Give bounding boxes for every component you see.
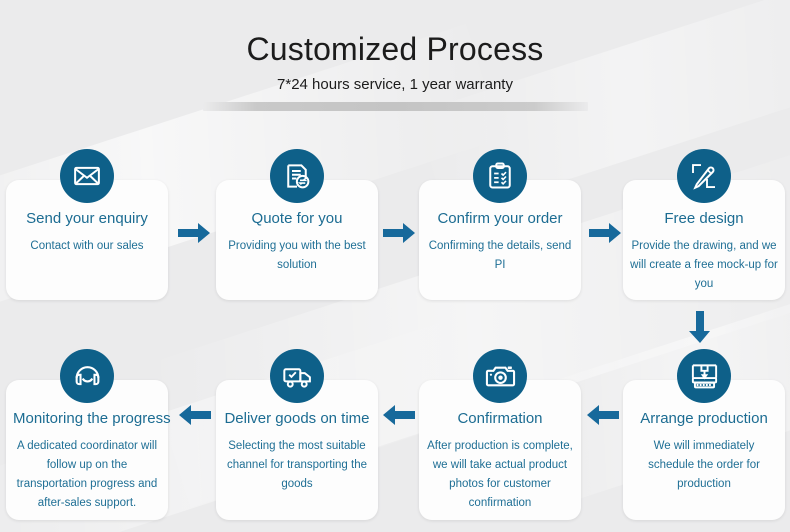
header-divider	[203, 102, 588, 111]
step-body: Contact with our sales	[13, 237, 161, 256]
step-title: Confirmation	[426, 410, 574, 428]
arrow-down-icon	[689, 311, 711, 344]
arrow-right-icon	[589, 222, 622, 244]
step-body: Providing you with the best solution	[223, 237, 371, 275]
step-body: Confirming the details, send PI	[426, 237, 574, 275]
step-title: Quote for you	[223, 210, 371, 228]
page-title: Customized Process	[0, 32, 790, 67]
step-body: Provide the drawing, and we will create …	[630, 237, 778, 294]
arrow-left-icon	[382, 404, 415, 426]
production-machine-icon	[677, 349, 731, 403]
pencil-design-icon	[677, 149, 731, 203]
page-header: Customized Process 7*24 hours service, 1…	[0, 0, 790, 111]
step-card-deliver-goods-on-time[interactable]: Deliver goods on time Selecting the most…	[216, 380, 378, 520]
step-body: Selecting the most suitable channel for …	[223, 437, 371, 494]
delivery-truck-icon	[270, 349, 324, 403]
step-card-confirm-your-order[interactable]: Confirm your order Confirming the detail…	[419, 180, 581, 300]
step-card-quote-for-you[interactable]: Quote for you Providing you with the bes…	[216, 180, 378, 300]
process-row-bottom: Monitoring the progress A dedicated coor…	[0, 380, 790, 532]
step-body: After production is complete, we will ta…	[426, 437, 574, 513]
arrow-right-icon	[383, 222, 416, 244]
clipboard-check-icon	[473, 149, 527, 203]
step-title: Free design	[630, 210, 778, 228]
step-title: Arrange production	[630, 410, 778, 428]
camera-icon	[473, 349, 527, 403]
step-title: Confirm your order	[426, 210, 574, 228]
process-row-top: Send your enquiry Contact with our sales…	[0, 180, 790, 340]
arrow-left-icon	[586, 404, 619, 426]
envelope-icon	[60, 149, 114, 203]
arrow-right-icon	[178, 222, 211, 244]
step-card-arrange-production[interactable]: Arrange production We will immediately s…	[623, 380, 785, 520]
step-card-send-your-enquiry[interactable]: Send your enquiry Contact with our sales	[6, 180, 168, 300]
step-title: Send your enquiry	[13, 210, 161, 228]
page-subtitle: 7*24 hours service, 1 year warranty	[0, 76, 790, 93]
step-card-monitoring-the-progress[interactable]: Monitoring the progress A dedicated coor…	[6, 380, 168, 520]
step-body: We will immediately schedule the order f…	[630, 437, 778, 494]
quote-document-icon	[270, 149, 324, 203]
step-card-confirmation[interactable]: Confirmation After production is complet…	[419, 380, 581, 520]
arrow-left-icon	[178, 404, 211, 426]
step-title: Monitoring the progress	[13, 410, 161, 428]
step-title: Deliver goods on time	[223, 410, 371, 428]
step-body: A dedicated coordinator will follow up o…	[13, 437, 161, 513]
step-card-free-design[interactable]: Free design Provide the drawing, and we …	[623, 180, 785, 300]
headset-support-icon	[60, 349, 114, 403]
